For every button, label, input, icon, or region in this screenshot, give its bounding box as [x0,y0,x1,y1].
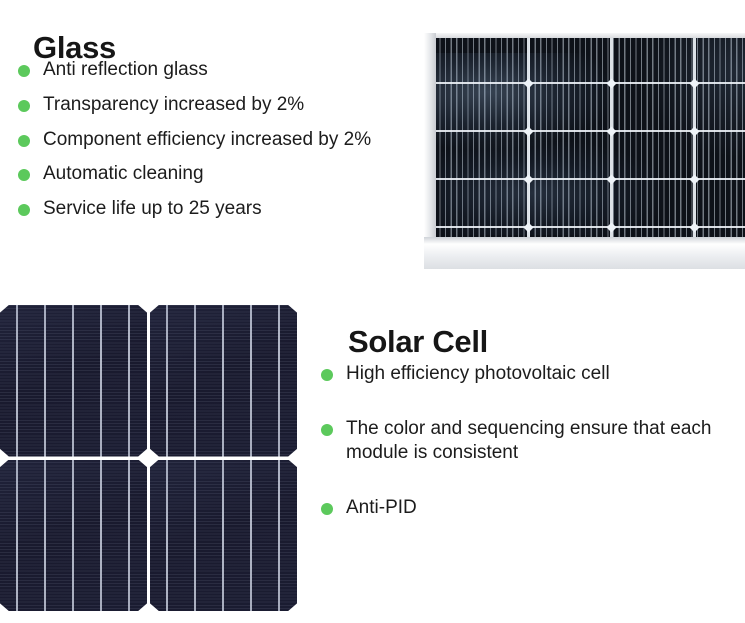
module-reflection-highlight [441,142,662,235]
module-frame-top-rail [424,33,745,38]
module-reflection-highlight [435,53,615,150]
cell-sheen [0,460,147,612]
list-item-label: Automatic cleaning [43,162,410,186]
list-item: High efficiency photovoltaic cell [318,362,730,386]
list-item-label: Component efficiency increased by 2% [43,128,410,152]
list-item-label: Service life up to 25 years [43,197,410,221]
mono-cell [0,460,147,612]
bullet-dot-icon [321,424,333,436]
list-item: Service life up to 25 years [15,197,410,221]
list-item: Anti-PID [318,496,730,520]
solar-cell-closeup-photo [0,305,297,611]
list-item: Component efficiency increased by 2% [15,128,410,152]
module-cell-gap-line [693,37,696,239]
solar-module-photo [424,33,745,269]
list-item-label: Transparency increased by 2% [43,93,410,117]
bullet-dot-icon [18,169,30,181]
mono-cell [150,305,297,457]
bullet-dot-icon [18,204,30,216]
list-item-label: Anti-PID [346,496,730,520]
cell-sheen [150,460,297,612]
mono-cell [0,305,147,457]
list-item-label: The color and sequencing ensure that eac… [346,417,730,465]
mono-cell [150,460,297,612]
bullet-dot-icon [18,100,30,112]
module-cell-gap-line [527,37,530,239]
solar-cell-feature-list: High efficiency photovoltaic cell The co… [318,362,730,551]
bullet-dot-icon [18,135,30,147]
bullet-dot-icon [321,369,333,381]
bullet-dot-icon [18,65,30,77]
list-item: Transparency increased by 2% [15,93,410,117]
module-cell-gap-line [610,37,613,239]
module-laminate [435,37,745,239]
solar-cell-section-heading: Solar Cell [348,326,488,357]
glass-feature-list: Anti reflection glass Transparency incre… [15,58,410,232]
bullet-dot-icon [321,503,333,515]
cell-sheen [150,305,297,457]
list-item: The color and sequencing ensure that eac… [318,417,730,465]
cell-sheen [0,305,147,457]
module-frame-left-rail [424,33,436,269]
list-item-label: High efficiency photovoltaic cell [346,362,730,386]
list-item: Automatic cleaning [15,162,410,186]
list-item-label: Anti reflection glass [43,58,410,82]
list-item: Anti reflection glass [15,58,410,82]
module-frame-bottom-rail [424,237,745,269]
